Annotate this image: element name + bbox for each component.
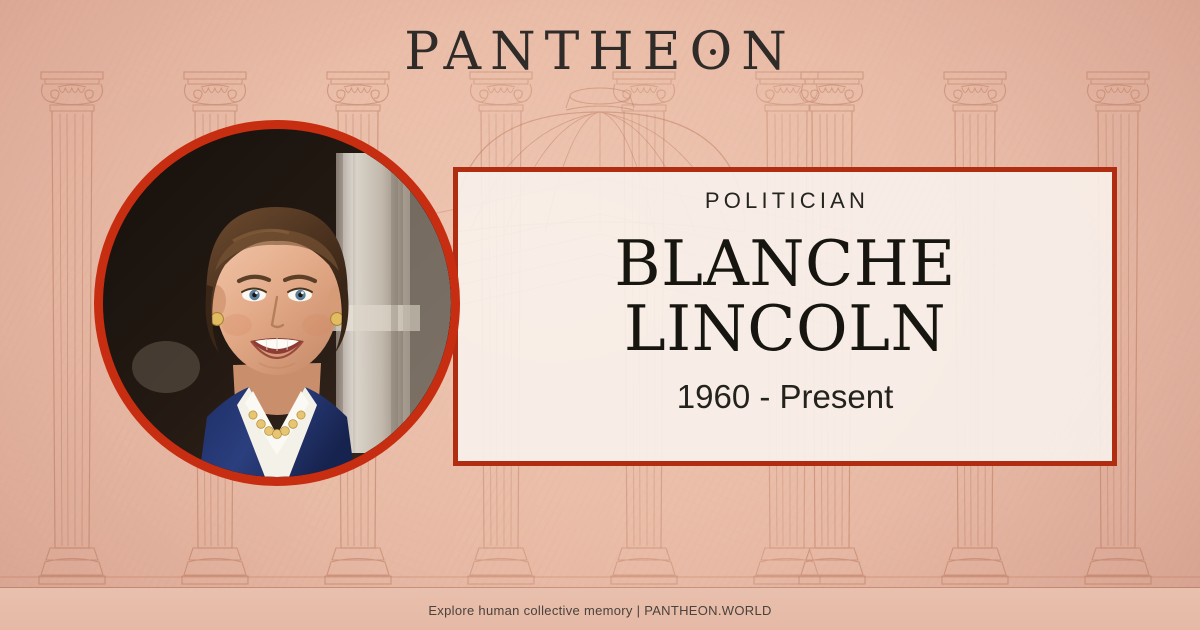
pantheon-wordmark: PANTHEON: [0, 26, 1200, 78]
pantheon-social-card: PANTHEON: [0, 0, 1200, 630]
wordmark-omicron: O: [690, 26, 742, 78]
person-name-line-1: BLANCHE: [458, 232, 1112, 297]
wordmark-part1: PANTHE: [404, 22, 689, 82]
portrait-illustration: [103, 129, 451, 477]
occupation-label: POLITICIAN: [701, 190, 869, 212]
wordmark-part2: N: [741, 22, 796, 82]
person-name: BLANCHE LINCOLN: [458, 232, 1112, 362]
portrait-photo: [103, 129, 451, 477]
person-name-line-2: LINCOLN: [458, 297, 1112, 362]
person-info-card: POLITICIAN BLANCHE LINCOLN 1960 - Presen…: [453, 167, 1117, 466]
lifespan-label: 1960 - Present: [677, 380, 893, 413]
footer-tagline: Explore human collective memory | PANTHE…: [0, 603, 1200, 618]
portrait-avatar: [94, 120, 460, 486]
